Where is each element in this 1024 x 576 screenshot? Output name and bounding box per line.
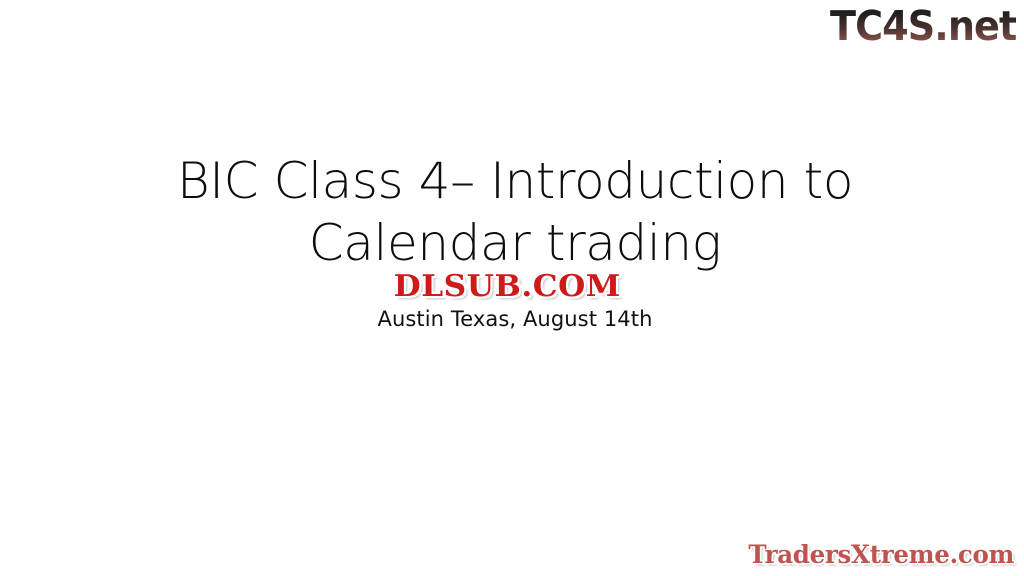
watermark-tc4s-net: TC4S.net: [830, 2, 1016, 50]
presentation-slide: BIC Class 4– Introduction to Calendar tr…: [0, 0, 1024, 576]
watermark-dlsub-com: DLSUB.COM: [369, 268, 646, 306]
subtitle-placeholder: Austin Texas, August 14th: [120, 305, 910, 333]
page-title: BIC Class 4– Introduction to Calendar tr…: [120, 150, 910, 274]
slide-subtitle: Austin Texas, August 14th: [120, 305, 910, 333]
watermark-dlsub-com-label: DLSUB.COM: [394, 271, 621, 303]
watermark-tradersxtreme-com: TradersXtreme.com: [748, 540, 1014, 570]
title-placeholder: BIC Class 4– Introduction to Calendar tr…: [120, 150, 910, 274]
